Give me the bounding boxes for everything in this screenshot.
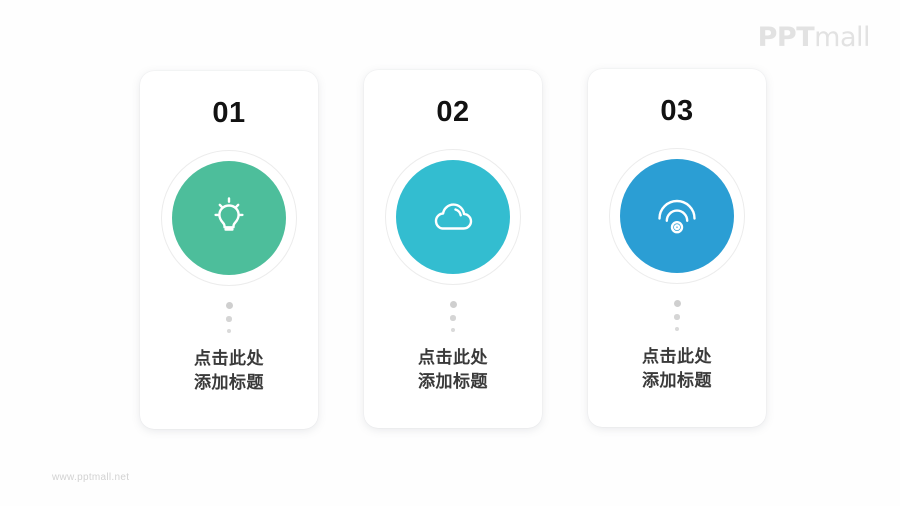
footer-url: www.pptmall.net	[52, 472, 129, 483]
card-number: 01	[212, 99, 245, 128]
cloud-icon	[424, 188, 482, 246]
card-title[interactable]: 点击此处 添加标题	[642, 345, 712, 394]
card-01[interactable]: 01	[140, 71, 318, 429]
slide-canvas: PPTmall 01	[0, 0, 900, 506]
dot	[450, 301, 457, 308]
dot	[226, 302, 233, 309]
dot	[675, 327, 679, 331]
card-02[interactable]: 02 点击此处 添加标题	[364, 70, 542, 428]
connector-dots	[450, 301, 457, 332]
card-title-line1: 点击此处	[194, 347, 264, 372]
icon-badge[interactable]	[396, 160, 510, 274]
icon-ring	[385, 149, 521, 285]
dot	[227, 329, 231, 333]
card-title[interactable]: 点击此处 添加标题	[418, 346, 488, 395]
icon-ring	[609, 148, 745, 284]
card-03[interactable]: 03	[588, 69, 766, 427]
dot	[674, 314, 680, 320]
card-number: 03	[660, 97, 693, 126]
cards-row: 01	[0, 0, 900, 506]
dot	[226, 316, 232, 322]
connector-dots	[674, 300, 681, 331]
dot	[451, 328, 455, 332]
lightbulb-icon	[201, 190, 257, 246]
icon-badge[interactable]	[620, 159, 734, 273]
card-title-line2: 添加标题	[194, 371, 264, 396]
dot	[674, 300, 681, 307]
dot	[450, 315, 456, 321]
wifi-icon	[648, 187, 706, 245]
icon-ring	[161, 150, 297, 286]
icon-badge[interactable]	[172, 161, 286, 275]
connector-dots	[226, 302, 233, 333]
card-title-line1: 点击此处	[418, 346, 488, 371]
card-number: 02	[436, 98, 469, 127]
card-title-line2: 添加标题	[418, 370, 488, 395]
card-title-line2: 添加标题	[642, 369, 712, 394]
card-title[interactable]: 点击此处 添加标题	[194, 347, 264, 396]
card-title-line1: 点击此处	[642, 345, 712, 370]
